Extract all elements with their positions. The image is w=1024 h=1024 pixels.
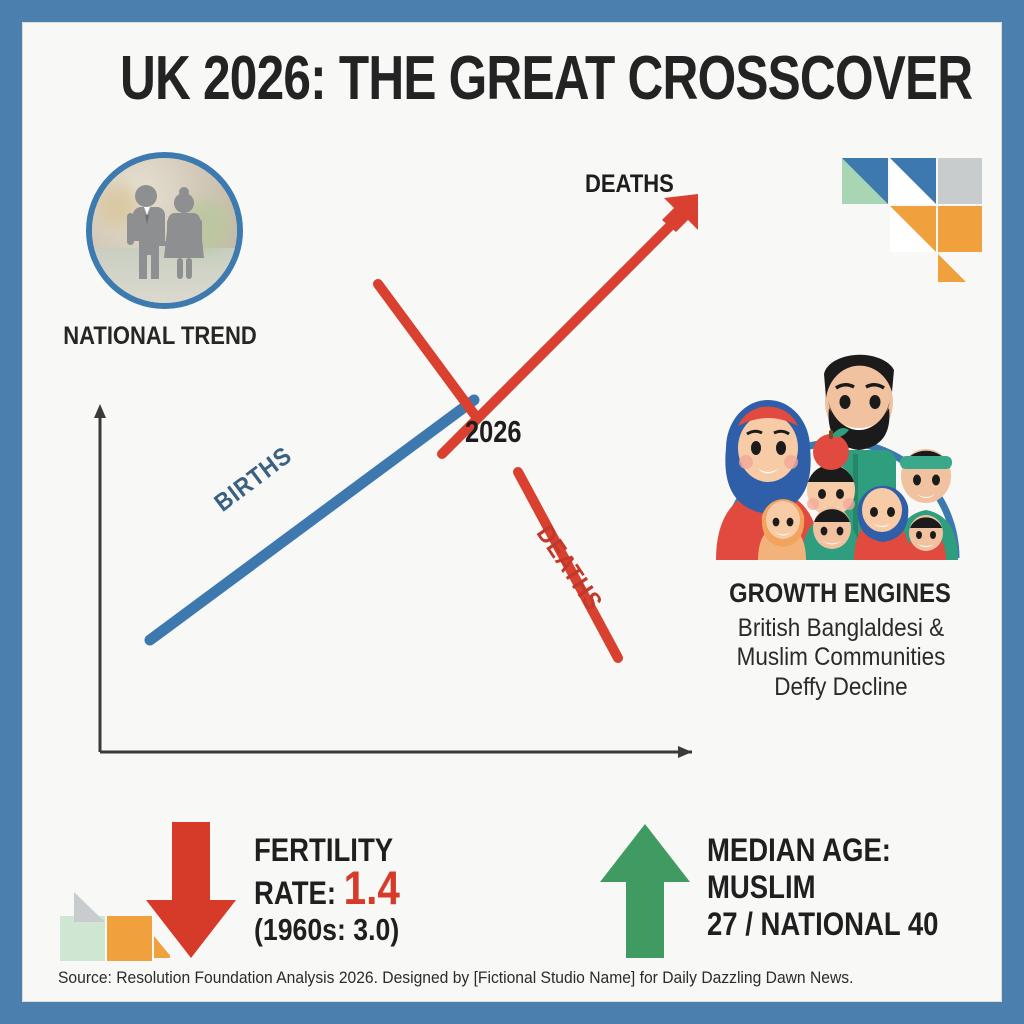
stat-median-age-text: MEDIAN AGE: MUSLIM 27 / NATIONAL 40	[707, 832, 938, 943]
stat-median-age-line2: MUSLIM	[707, 869, 938, 906]
apple-icon	[813, 434, 849, 470]
up-arrow-icon	[597, 822, 693, 960]
child-figure-girl-hijab	[854, 486, 910, 560]
geometric-motif-top-right	[842, 158, 982, 298]
growth-engines-illustration	[710, 330, 970, 570]
births-line	[150, 400, 474, 640]
stat-fertility-line2-prefix: RATE:	[254, 875, 344, 911]
growth-sub-line-2: Muslim Communities	[698, 643, 984, 672]
chart-trend-lines	[22, 22, 782, 802]
stat-fertility-value: 1.4	[344, 861, 400, 914]
deaths-rising-label: DEATHS	[585, 170, 674, 199]
stat-fertility-rate: FERTILITY RATE: 1.4 (1960s: 3.0)	[142, 822, 240, 965]
growth-sub-line-3: Deffy Decline	[698, 673, 984, 702]
stat-fertility-line3: (1960s: 3.0)	[254, 912, 400, 948]
growth-engines-subtitle: British Banglaldesi & Muslim Communities…	[698, 614, 984, 702]
births-deaths-chart	[82, 382, 722, 782]
stat-median-age-line1: MEDIAN AGE:	[707, 832, 938, 869]
crossover-year-label: 2026	[465, 414, 522, 450]
stat-median-age-line3: 27 / NATIONAL 40	[707, 906, 938, 943]
source-footer: Source: Resolution Foundation Analysis 2…	[58, 968, 895, 988]
deaths-falling-upper	[378, 284, 474, 414]
infographic-poster: UK 2026: THE GREAT CROSSCOVER	[22, 22, 1002, 1002]
growth-engines-title: GROWTH ENGINES	[708, 578, 972, 609]
muslim-family-icon	[710, 330, 970, 570]
down-arrow-icon	[142, 822, 240, 960]
stat-median-age: MEDIAN AGE: MUSLIM 27 / NATIONAL 40	[597, 822, 693, 965]
growth-sub-line-1: British Banglaldesi &	[698, 614, 984, 643]
stat-fertility-text: FERTILITY RATE: 1.4 (1960s: 3.0)	[254, 832, 400, 948]
